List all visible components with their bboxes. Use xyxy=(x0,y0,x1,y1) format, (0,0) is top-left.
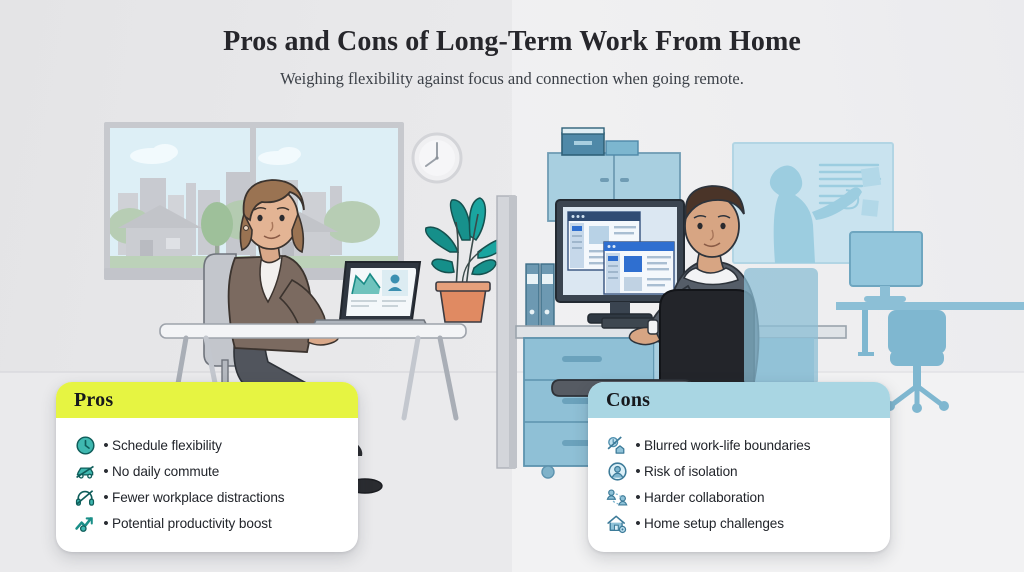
archive-box xyxy=(562,128,604,155)
list-item: • Fewer workplace distractions xyxy=(70,484,344,510)
list-item: • No daily commute xyxy=(70,458,344,484)
pros-item-label: Schedule flexibility xyxy=(112,438,222,453)
bullet: • xyxy=(100,464,112,479)
list-item: • Harder collaboration xyxy=(602,484,876,510)
page-title: Pros and Cons of Long-Term Work From Hom… xyxy=(0,24,1024,59)
cons-item-label: Home setup challenges xyxy=(644,516,784,531)
wall-clock xyxy=(413,134,461,182)
cons-list: • Blurred work-life boundaries • Risk of… xyxy=(588,418,890,552)
pros-item-label: Potential productivity boost xyxy=(112,516,272,531)
pros-item-label: Fewer workplace distractions xyxy=(112,490,284,505)
cons-item-label: Risk of isolation xyxy=(644,464,738,479)
bullet: • xyxy=(632,516,644,531)
house-gear-icon xyxy=(602,511,632,535)
trending-up-icon xyxy=(70,511,100,535)
pros-card-header: Pros xyxy=(56,382,358,418)
bullet: • xyxy=(100,516,112,531)
cons-heading: Cons xyxy=(606,389,650,412)
pros-card: Pros • Schedule flexibility xyxy=(56,382,358,552)
list-item: • Potential productivity boost xyxy=(70,510,344,536)
bullet: • xyxy=(632,438,644,453)
header: Pros and Cons of Long-Term Work From Hom… xyxy=(0,24,1024,89)
partition-wall xyxy=(497,196,517,468)
bullet: • xyxy=(100,438,112,453)
list-item: • Schedule flexibility xyxy=(70,432,344,458)
bullet: • xyxy=(632,464,644,479)
list-item: • Home setup challenges xyxy=(602,510,876,536)
headphones-slash-icon xyxy=(70,485,100,509)
two-people-icon xyxy=(602,485,632,509)
cons-card-header: Cons xyxy=(588,382,890,418)
clock-icon xyxy=(70,433,100,457)
pros-list: • Schedule flexibility • No daily commut… xyxy=(56,418,358,552)
clock-house-slash-icon xyxy=(602,433,632,457)
pros-item-label: No daily commute xyxy=(112,464,219,479)
pros-heading: Pros xyxy=(74,389,113,412)
bullet: • xyxy=(100,490,112,505)
car-slash-icon xyxy=(70,459,100,483)
list-item: • Risk of isolation xyxy=(602,458,876,484)
cons-item-label: Harder collaboration xyxy=(644,490,764,505)
list-item: • Blurred work-life boundaries xyxy=(602,432,876,458)
bullet: • xyxy=(632,490,644,505)
page-subtitle: Weighing flexibility against focus and c… xyxy=(0,69,1024,89)
cons-item-label: Blurred work-life boundaries xyxy=(644,438,810,453)
potted-plant xyxy=(426,198,506,322)
infographic-canvas: Pros and Cons of Long-Term Work From Hom… xyxy=(0,0,1024,572)
cons-card: Cons • Blurred work-life boundaries xyxy=(588,382,890,552)
person-circle-icon xyxy=(602,459,632,483)
binders xyxy=(526,264,554,328)
